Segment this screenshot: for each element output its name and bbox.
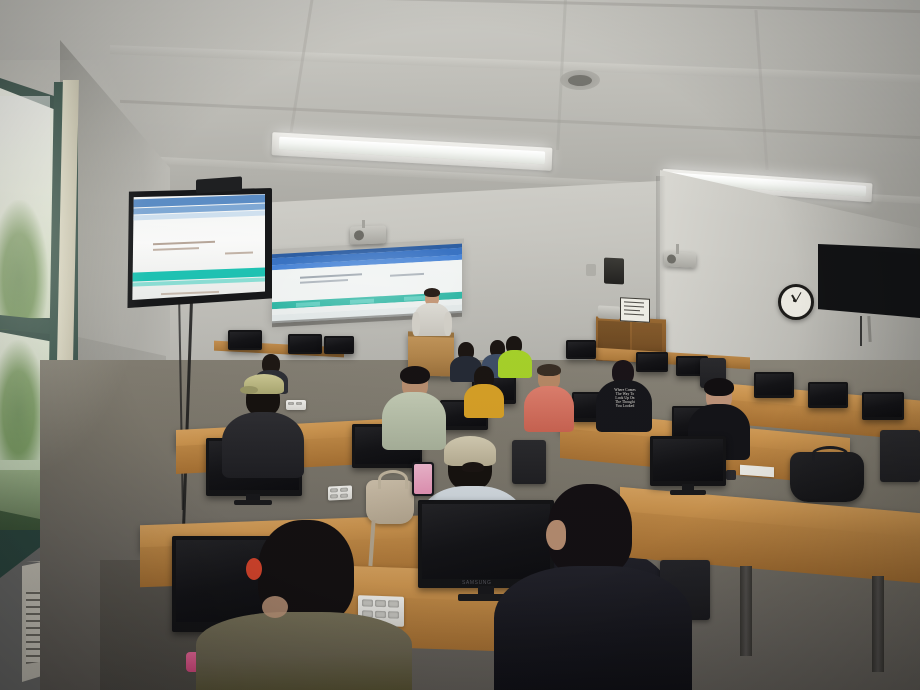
instructor-arm-right xyxy=(444,312,452,336)
chair-far-right[interactable] xyxy=(880,430,920,482)
student-body-neon xyxy=(498,350,532,378)
chair-mid-center[interactable] xyxy=(512,440,546,484)
orange-earphone xyxy=(246,558,262,580)
monitor-right-2[interactable] xyxy=(808,382,848,408)
wall-tv-left[interactable] xyxy=(126,188,272,308)
monitor-foreground-right[interactable] xyxy=(650,436,726,486)
ceiling-projector-right xyxy=(664,251,696,268)
ceiling-projector-left xyxy=(350,225,386,244)
instructor-hair xyxy=(424,288,440,297)
classroom-photo: Where Comes The Way To Look Up On The Th… xyxy=(0,0,920,690)
student-hair-salmon xyxy=(537,364,561,376)
cap-olive-brim xyxy=(240,386,258,394)
tv-right-cable xyxy=(860,316,862,346)
monitor-right-1[interactable] xyxy=(754,372,794,398)
cabinet-equipment xyxy=(598,305,620,319)
desk-leg xyxy=(872,576,884,672)
backpack-handle xyxy=(812,446,848,461)
desk-item-right xyxy=(726,470,736,480)
student-body-sage xyxy=(382,392,446,450)
student-hair-right-black xyxy=(704,378,734,396)
wall-tv-right[interactable] xyxy=(818,244,920,318)
wall-clock xyxy=(778,284,814,320)
student-body-salmon xyxy=(524,386,574,432)
student-body-cap-olive xyxy=(222,412,304,478)
monitor-back-3[interactable] xyxy=(324,336,354,354)
monitor-base xyxy=(670,490,706,495)
window-foliage xyxy=(0,200,48,330)
ceiling-vent-inner xyxy=(568,75,592,86)
student-foreground-left-body xyxy=(196,612,412,690)
student-foreground-left-neck xyxy=(262,596,288,618)
handbag-handle xyxy=(378,470,408,489)
projector-mount xyxy=(676,244,679,254)
student-foreground-center-face xyxy=(546,520,566,550)
monitor-right-3[interactable] xyxy=(862,392,904,420)
student-body-printed: Where Comes The Way To Look Up On The Th… xyxy=(596,380,652,432)
wall-tv-left-screen xyxy=(131,194,265,300)
power-strip-left xyxy=(328,485,352,500)
student-body-mustard xyxy=(464,384,504,418)
student-hair-sage xyxy=(400,366,430,384)
power-strip-mid-left xyxy=(286,400,306,410)
projector-mount xyxy=(362,220,365,228)
wall-speaker xyxy=(604,257,624,284)
monitor-back-2[interactable] xyxy=(288,334,322,354)
smartphone[interactable] xyxy=(412,462,434,496)
shirt-print: Where Comes The Way To Look Up On The Th… xyxy=(606,388,644,408)
monitor-back-4[interactable] xyxy=(566,340,596,359)
monitor-back-5[interactable] xyxy=(636,352,668,372)
desk-leg xyxy=(740,566,752,656)
monitor-base xyxy=(234,500,272,505)
student-foreground-center-body xyxy=(494,566,692,690)
framed-sign xyxy=(620,297,650,323)
instructor-arm-left xyxy=(412,312,420,336)
cap-beige-opening xyxy=(462,462,484,472)
shirt-print-line-5: You Looked xyxy=(606,404,644,408)
wall-outlet xyxy=(586,264,596,276)
monitor-back-1[interactable] xyxy=(228,330,262,350)
